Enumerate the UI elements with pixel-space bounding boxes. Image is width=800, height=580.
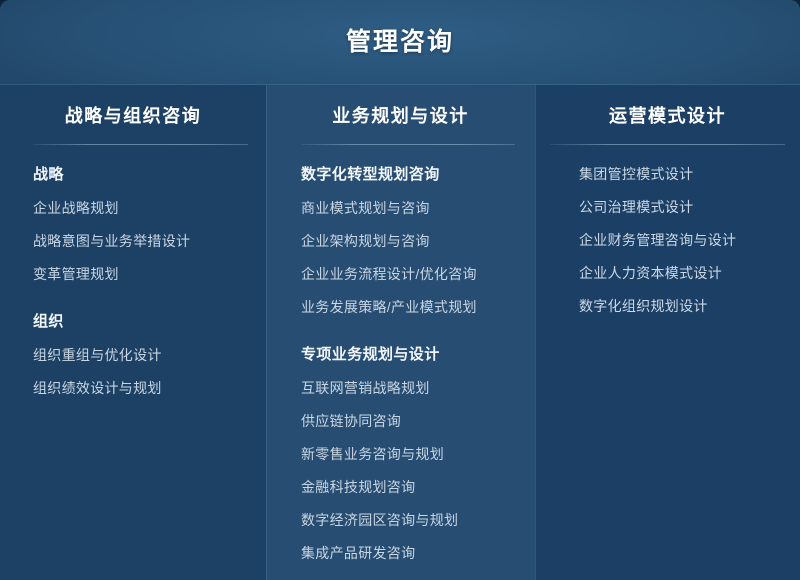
list-item[interactable]: 变革管理规划 (33, 267, 250, 281)
column-title: 业务规划与设计 (266, 107, 535, 144)
list-item[interactable]: 数字经济园区咨询与规划 (301, 513, 519, 527)
list-item[interactable]: 战略意图与业务举措设计 (33, 234, 250, 248)
group-title: 数字化转型规划咨询 (301, 167, 519, 182)
group-strategy: 战略 企业战略规划 战略意图与业务举措设计 变革管理规划 (33, 167, 250, 281)
list-item[interactable]: 企业财务管理咨询与设计 (579, 233, 786, 247)
column-body: 集团管控模式设计 公司治理模式设计 企业财务管理咨询与设计 企业人力资本模式设计… (535, 145, 800, 313)
column-body: 战略 企业战略规划 战略意图与业务举措设计 变革管理规划 组织 组织重组与优化设… (0, 145, 266, 395)
list-item[interactable]: 商业模式规划与咨询 (301, 201, 519, 215)
column-body: 数字化转型规划咨询 商业模式规划与咨询 企业架构规划与咨询 企业业务流程设计/优… (266, 145, 535, 560)
panel-header: 管理咨询 (0, 0, 800, 85)
columns-container: 战略与组织咨询 战略 企业战略规划 战略意图与业务举措设计 变革管理规划 组织 … (0, 85, 800, 580)
list-item[interactable]: 组织绩效设计与规划 (33, 381, 250, 395)
list-item[interactable]: 数字化组织规划设计 (579, 299, 786, 313)
list-item[interactable]: 企业业务流程设计/优化咨询 (301, 267, 519, 281)
group-title: 战略 (33, 167, 250, 182)
group-organization: 组织 组织重组与优化设计 组织绩效设计与规划 (33, 314, 250, 395)
list-item[interactable]: 集团管控模式设计 (579, 167, 786, 181)
list-item[interactable]: 新零售业务咨询与规划 (301, 447, 519, 461)
list-item[interactable]: 企业战略规划 (33, 201, 250, 215)
column-operating-model-design: 运营模式设计 集团管控模式设计 公司治理模式设计 企业财务管理咨询与设计 企业人… (535, 85, 800, 580)
list-item[interactable]: 供应链协同咨询 (301, 414, 519, 428)
list-item[interactable]: 业务发展策略/产业模式规划 (301, 300, 519, 314)
list-item[interactable]: 企业人力资本模式设计 (579, 266, 786, 280)
group-title: 专项业务规划与设计 (301, 347, 519, 362)
group-special-business-planning-and-design: 专项业务规划与设计 互联网营销战略规划 供应链协同咨询 新零售业务咨询与规划 金… (301, 347, 519, 560)
page-title: 管理咨询 (346, 30, 454, 55)
list-item[interactable]: 公司治理模式设计 (579, 200, 786, 214)
column-strategy-and-organization-consulting: 战略与组织咨询 战略 企业战略规划 战略意图与业务举措设计 变革管理规划 组织 … (0, 85, 266, 580)
list-item[interactable]: 组织重组与优化设计 (33, 348, 250, 362)
group-title: 组织 (33, 314, 250, 329)
management-consulting-panel: 管理咨询 战略与组织咨询 战略 企业战略规划 战略意图与业务举措设计 变革管理规… (0, 0, 800, 580)
column-title: 运营模式设计 (535, 107, 800, 144)
list-item[interactable]: 金融科技规划咨询 (301, 480, 519, 494)
group-digital-transformation-planning-consulting: 数字化转型规划咨询 商业模式规划与咨询 企业架构规划与咨询 企业业务流程设计/优… (301, 167, 519, 314)
group-operating-model-items: 集团管控模式设计 公司治理模式设计 企业财务管理咨询与设计 企业人力资本模式设计… (579, 167, 786, 313)
column-business-planning-and-design: 业务规划与设计 数字化转型规划咨询 商业模式规划与咨询 企业架构规划与咨询 企业… (266, 85, 535, 580)
list-item[interactable]: 集成产品研发咨询 (301, 546, 519, 560)
column-title: 战略与组织咨询 (0, 107, 266, 144)
list-item[interactable]: 企业架构规划与咨询 (301, 234, 519, 248)
list-item[interactable]: 互联网营销战略规划 (301, 381, 519, 395)
